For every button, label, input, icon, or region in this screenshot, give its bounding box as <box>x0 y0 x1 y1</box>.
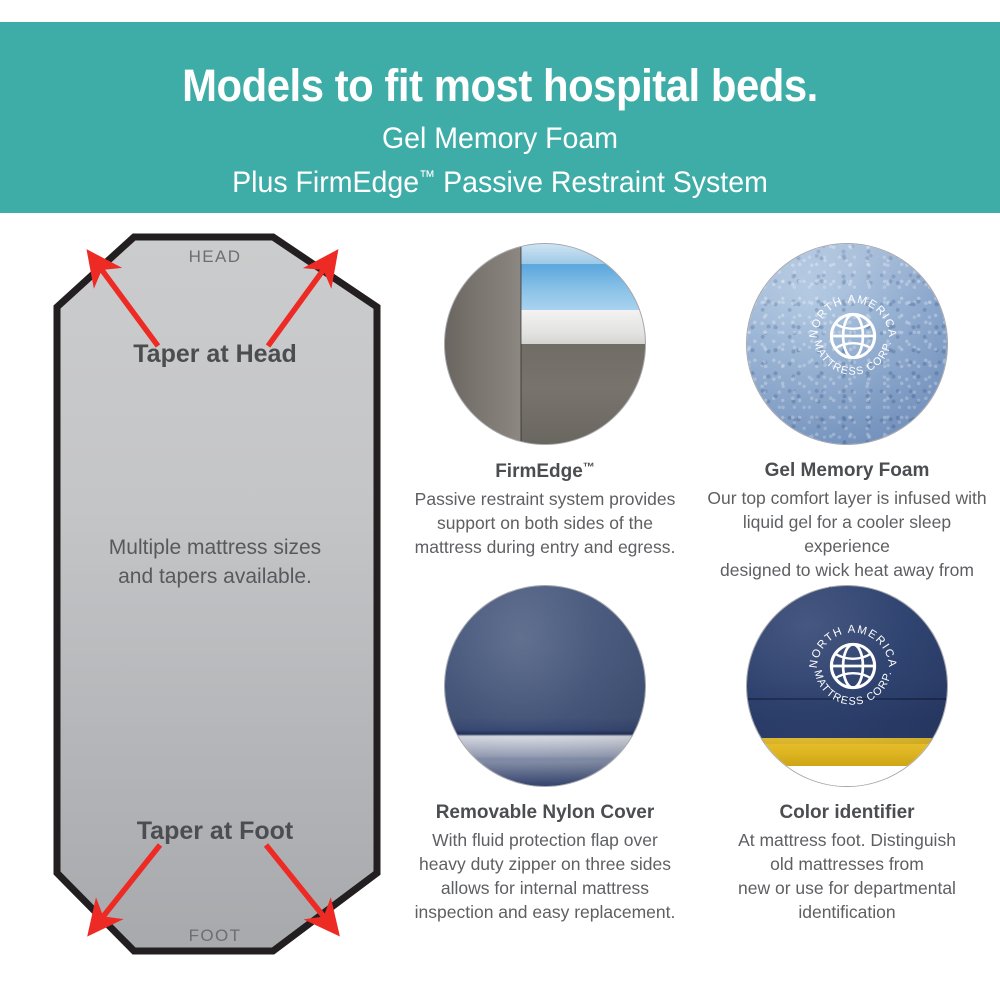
page-title: Models to fit most hospital beds. <box>35 22 965 112</box>
firmedge-photo <box>445 244 645 444</box>
color-identifier-description: At mattress foot. Distinguish old mattre… <box>702 828 992 924</box>
feature-color-identifier: NORTH AMERICA MATTRESS CORP. Color ident… <box>702 586 992 924</box>
mattress-sizes-note-line2: and tapers available. <box>30 562 400 591</box>
desc-line: heavy duty zipper on three sides <box>419 854 671 874</box>
desc-line: With fluid protection flap over <box>432 830 658 850</box>
header-banner: Models to fit most hospital beds. Gel Me… <box>0 22 1000 213</box>
desc-line: liquid gel for a cooler sleep experience <box>743 512 951 556</box>
desc-line: Passive restraint system provides <box>415 489 676 509</box>
nylon-cover-photo <box>445 586 645 786</box>
desc-line: support on both sides of the <box>437 513 653 533</box>
feature-gel-memory-foam: NORTH AMERICA MATTRESS CORP. Gel Memory … <box>702 244 992 606</box>
desc-line: At mattress foot. Distinguish <box>738 830 956 850</box>
mattress-sizes-note: Multiple mattress sizes and tapers avail… <box>30 533 400 591</box>
firmedge-title: FirmEdge™ <box>404 460 686 483</box>
header-subtitle-line1: Gel Memory Foam <box>25 112 975 158</box>
taper-at-foot-label: Taper at Foot <box>30 817 400 846</box>
feature-grid: FirmEdge™ Passive restraint system provi… <box>404 244 1000 964</box>
header-subtitle-line2-after: Passive Restraint System <box>435 166 768 199</box>
nylon-cover-description: With fluid protection flap over heavy du… <box>404 828 686 924</box>
gel-foam-sheen <box>747 244 947 444</box>
header-subtitle-line2: Plus FirmEdge™ Passive Restraint System <box>25 158 975 202</box>
gel-memory-foam-title: Gel Memory Foam <box>702 460 992 482</box>
nylon-cover-zipper-line <box>445 758 645 760</box>
firmedge-title-text: FirmEdge <box>495 461 583 482</box>
trademark-symbol: ™ <box>419 167 435 186</box>
gel-memory-foam-photo: NORTH AMERICA MATTRESS CORP. <box>747 244 947 444</box>
feature-firmedge: FirmEdge™ Passive restraint system provi… <box>404 244 686 559</box>
desc-line: new or use for departmental <box>738 878 956 898</box>
color-identifier-photo: NORTH AMERICA MATTRESS CORP. <box>747 586 947 786</box>
mattress-sizes-note-line1: Multiple mattress sizes <box>30 533 400 562</box>
color-identifier-sheen <box>747 586 947 744</box>
trademark-symbol: ™ <box>583 460 595 474</box>
firmedge-gel-highlight <box>519 244 645 264</box>
firmedge-seam-line <box>520 244 522 444</box>
head-label: HEAD <box>30 247 400 267</box>
color-identifier-white-area <box>747 766 947 786</box>
foot-label: FOOT <box>30 926 400 946</box>
firmedge-edge-column <box>445 244 521 444</box>
feature-removable-nylon-cover: Removable Nylon Cover With fluid protect… <box>404 586 686 924</box>
firmedge-white-layer <box>519 310 645 344</box>
header-subtitle-line2-before: Plus FirmEdge <box>232 166 419 199</box>
mattress-outline-svg <box>30 228 400 968</box>
firmedge-description: Passive restraint system provides suppor… <box>404 487 686 559</box>
color-identifier-title: Color identifier <box>702 802 992 824</box>
taper-at-head-label: Taper at Head <box>30 340 400 369</box>
desc-line: old mattresses from <box>770 854 924 874</box>
nylon-cover-sheen <box>445 586 645 786</box>
nylon-cover-fold-line <box>445 732 645 735</box>
mattress-diagram: HEAD Taper at Head Multiple mattress siz… <box>30 228 400 968</box>
firmedge-base-layer <box>519 344 645 444</box>
nylon-cover-title: Removable Nylon Cover <box>404 802 686 824</box>
desc-line: identification <box>798 902 895 922</box>
desc-line: Our top comfort layer is infused with <box>707 488 986 508</box>
desc-line: allows for internal mattress <box>441 878 649 898</box>
desc-line: mattress during entry and egress. <box>415 537 676 557</box>
desc-line: inspection and easy replacement. <box>415 902 676 922</box>
